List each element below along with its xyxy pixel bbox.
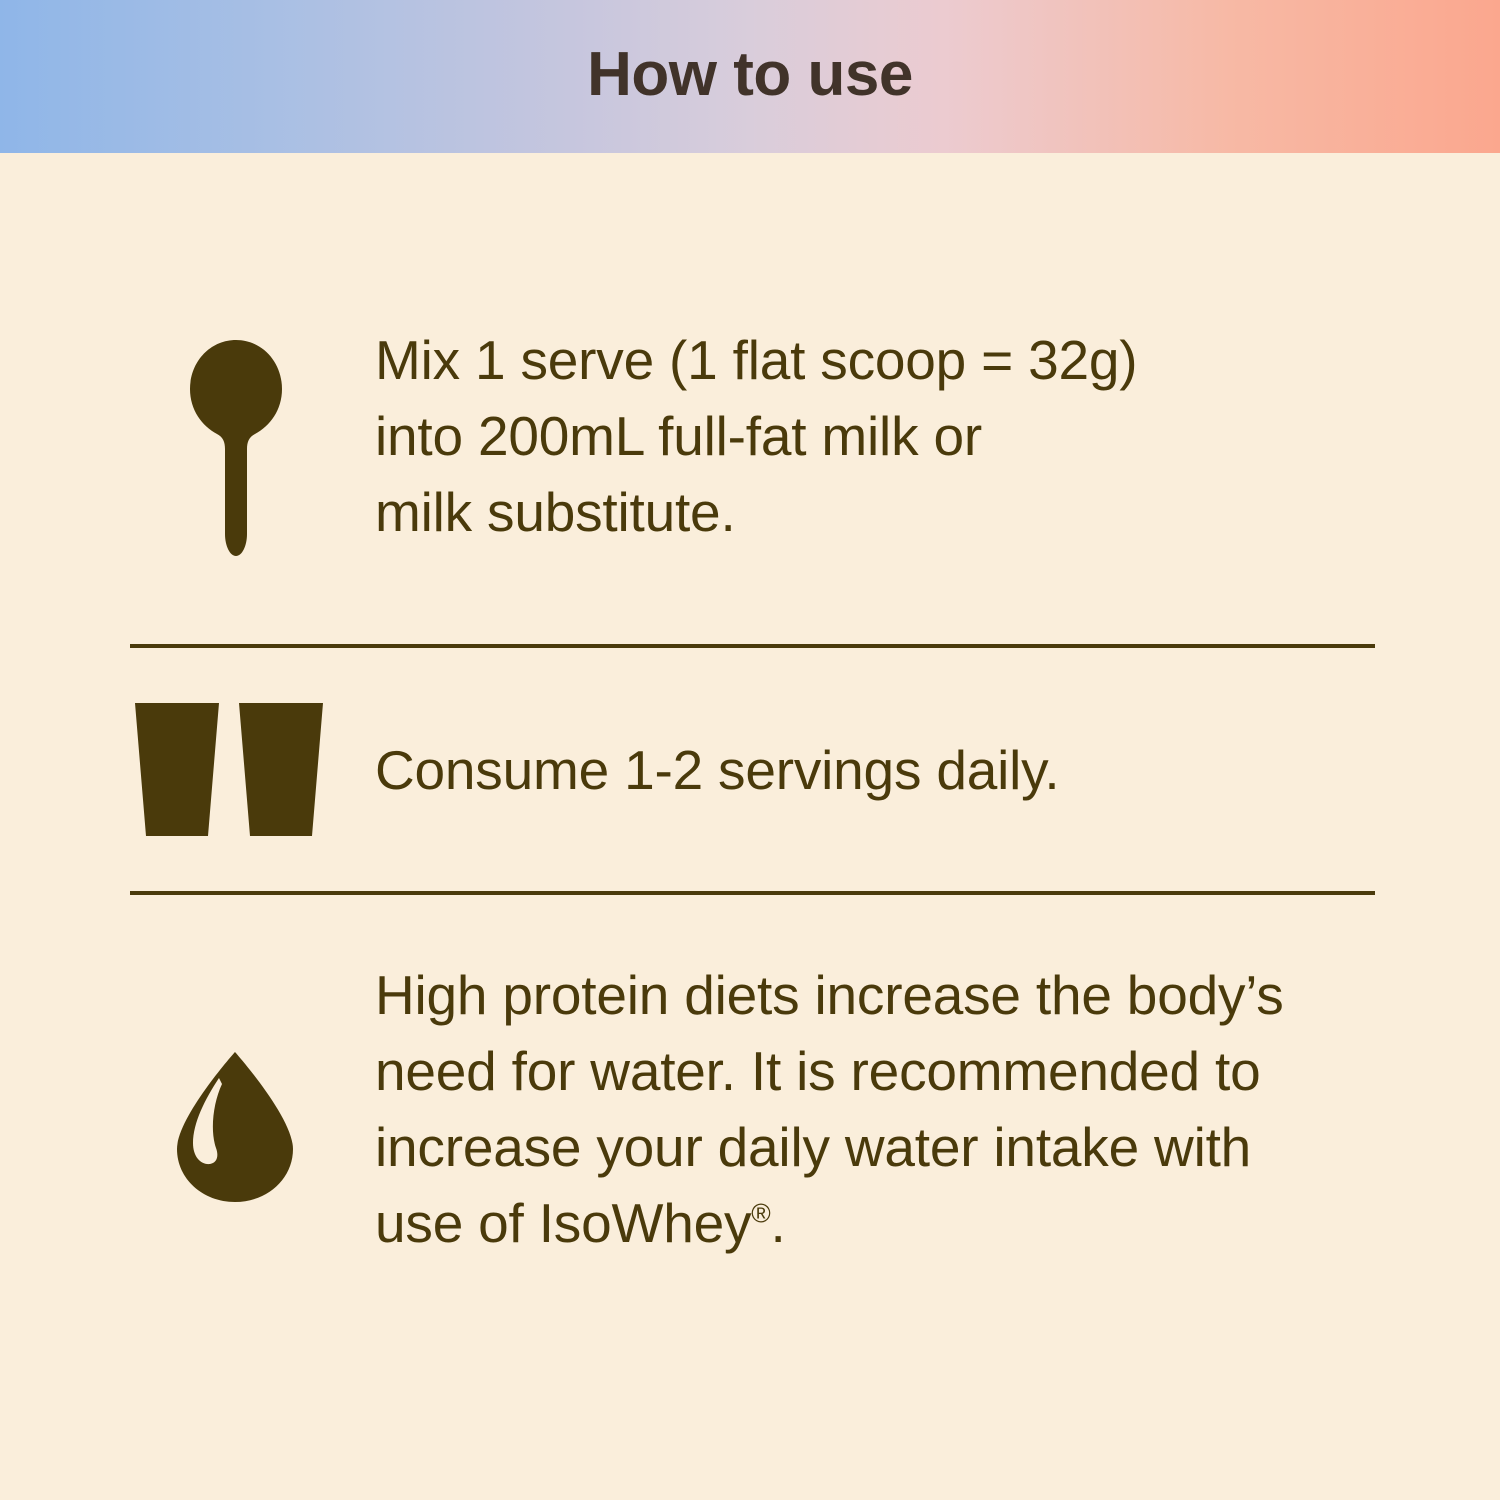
instruction-row-3-text: High protein diets increase the body’s n…: [375, 958, 1385, 1262]
page-header: How to use: [0, 0, 1500, 153]
page-title: How to use: [587, 44, 913, 110]
spoon-icon: [186, 338, 286, 558]
divider-1: [130, 644, 1375, 648]
instructions-list: Mix 1 serve (1 flat scoop = 32g) into 20…: [0, 153, 1500, 1500]
instruction-row-3-text-main: High protein diets increase the body’s n…: [375, 964, 1284, 1254]
instruction-row-2-text: Consume 1-2 servings daily.: [375, 733, 1275, 809]
water-droplet-icon: [175, 1051, 295, 1203]
how-to-use-panel: How to use Mix 1 serve (1 flat scoop = 3…: [0, 0, 1500, 1500]
instruction-row-3-text-tail: .: [771, 1192, 786, 1254]
instruction-row-3-icon: [175, 1051, 295, 1203]
instruction-row-1-icon: [186, 338, 286, 558]
registered-trademark-symbol: ®: [751, 1198, 770, 1228]
divider-2: [130, 891, 1375, 895]
instruction-row-2-icon: [133, 701, 325, 838]
two-glasses-icon: [133, 701, 325, 838]
instruction-row-1-text: Mix 1 serve (1 flat scoop = 32g) into 20…: [375, 323, 1275, 551]
